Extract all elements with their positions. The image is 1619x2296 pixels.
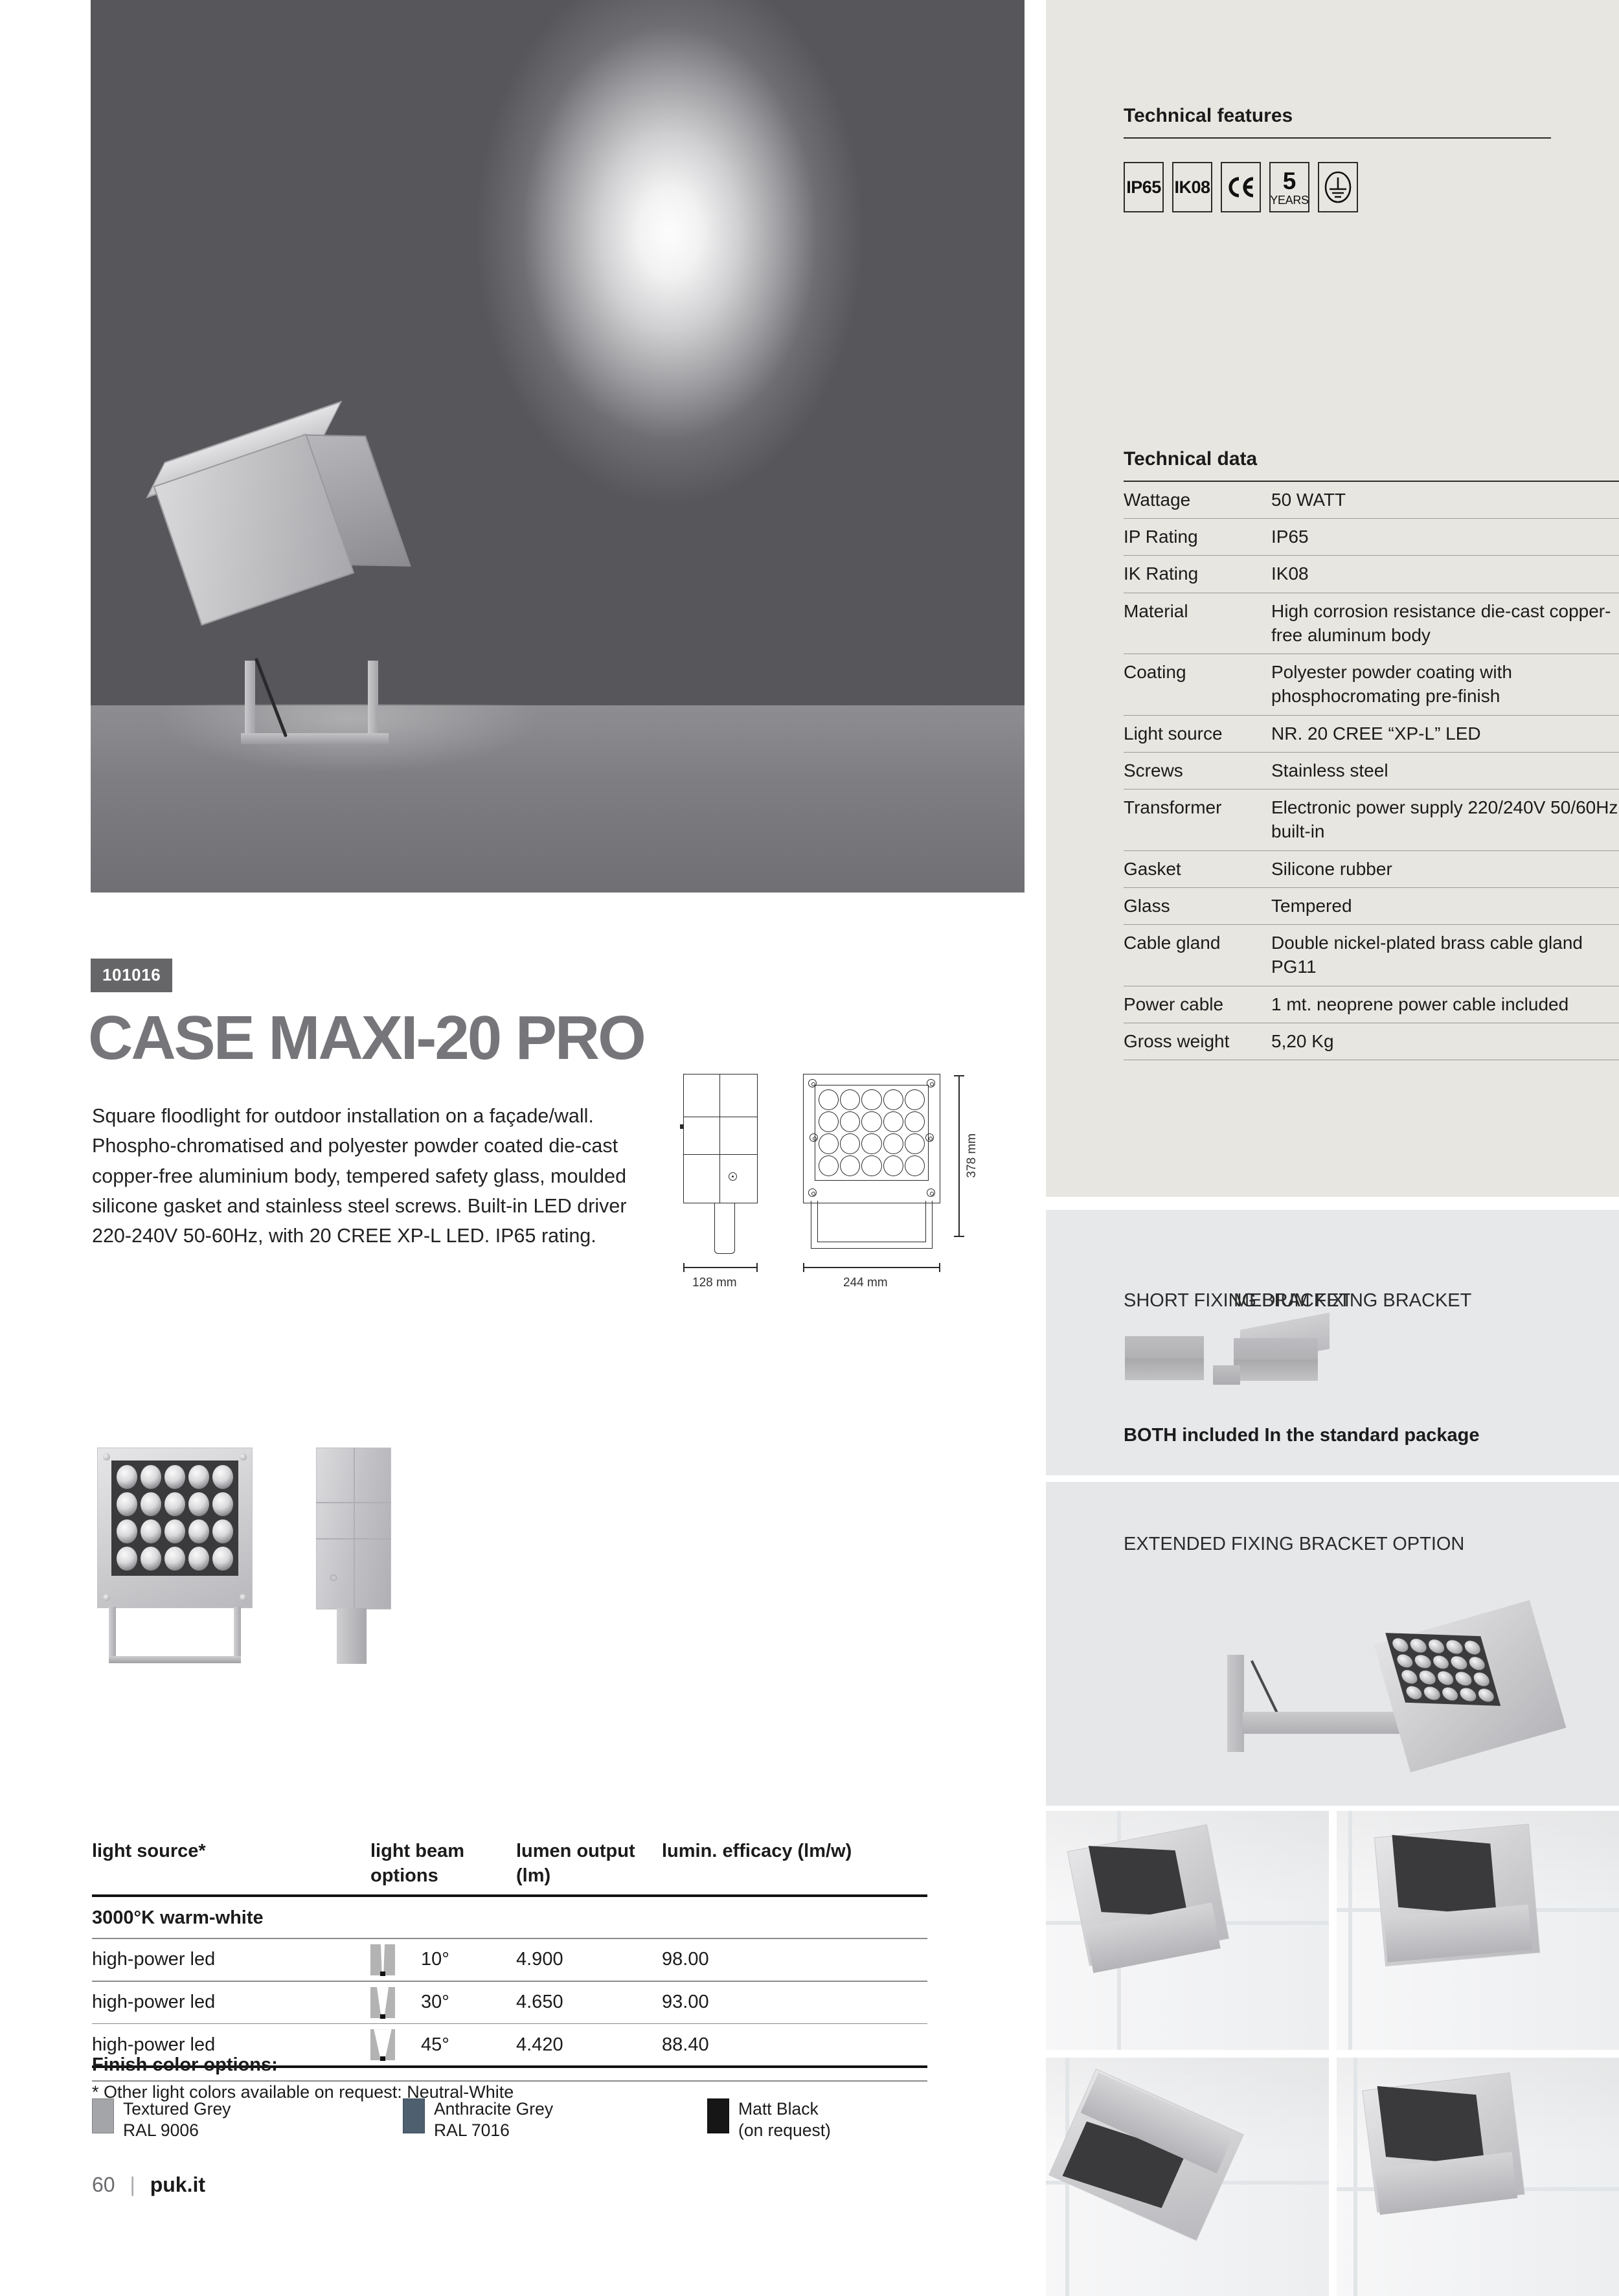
ce-mark-icon (1221, 162, 1261, 212)
table-header-row: light source* light beam options lumen o… (92, 1839, 927, 1888)
ik-rating-badge: IK08 (1172, 162, 1212, 212)
cell-beam-angle: 10° (421, 1949, 449, 1970)
technical-panel: Technical features IP65 IK08 5 YEARS T (1046, 0, 1619, 1197)
col-efficacy: lumin. efficacy (lm/w) (662, 1839, 927, 1888)
product-description: Square floodlight for outdoor installati… (92, 1101, 636, 1251)
section-rule (1124, 137, 1551, 139)
finish-name: Anthracite Grey (434, 2099, 553, 2119)
data-value: Stainless steel (1271, 758, 1619, 782)
cell-light-source: high-power led (92, 1949, 370, 1970)
hero-product-photo (91, 0, 1025, 892)
finish-name: Matt Black (738, 2099, 819, 2119)
technical-data-title: Technical data (1124, 448, 1257, 470)
hero-floor (91, 705, 1025, 892)
medium-bracket-label: MEDIUM FIXING BRACKET (1234, 1289, 1471, 1313)
side-view-drawing (683, 1074, 758, 1236)
beam-angle-30-icon (370, 1987, 395, 2018)
color-swatch-textured-grey (92, 2098, 114, 2133)
finish-color-options: Textured Grey RAL 9006 Anthracite Grey R… (92, 2098, 927, 2142)
dimension-side-width (683, 1267, 758, 1268)
data-key: Power cable (1124, 992, 1271, 1016)
finish-option: Anthracite Grey RAL 7016 (403, 2098, 707, 2142)
extended-bracket-photo (1227, 1615, 1564, 1786)
data-value: 5,20 Kg (1271, 1029, 1619, 1053)
product-photo-front (97, 1448, 253, 1665)
beam-angle-45-icon (370, 2029, 395, 2060)
dimension-side-width-label: 128 mm (692, 1276, 737, 1290)
table-row: Light sourceNR. 20 CREE “XP-L” LED (1124, 716, 1619, 753)
table-row: ScrewsStainless steel (1124, 753, 1619, 790)
data-value: NR. 20 CREE “XP-L” LED (1271, 722, 1619, 745)
data-key: Screws (1124, 758, 1271, 782)
data-key: Wattage (1124, 488, 1271, 512)
product-photo-side (304, 1448, 402, 1665)
brackets-included-note: BOTH included In the standard package (1124, 1425, 1480, 1446)
technical-features-title: Technical features (1124, 105, 1293, 127)
product-photos (91, 1428, 505, 1687)
dimension-height (958, 1075, 960, 1237)
cell-efficacy: 93.00 (662, 1992, 927, 2013)
table-row: GlassTempered (1124, 888, 1619, 925)
data-key: Gasket (1124, 857, 1271, 881)
cct-group-label: 3000°K warm-white (92, 1897, 927, 1938)
data-key: Light source (1124, 722, 1271, 745)
cell-efficacy: 98.00 (662, 1949, 927, 1970)
finish-rule (92, 2080, 927, 2082)
data-value: Tempered (1271, 894, 1619, 918)
col-lumen-output: lumen output (lm) (516, 1839, 662, 1888)
table-row: TransformerElectronic power supply 220/2… (1124, 790, 1619, 850)
cell-light-source: high-power led (92, 1992, 370, 2013)
cell-lumen: 4.650 (516, 1992, 662, 2013)
table-row: IP RatingIP65 (1124, 519, 1619, 556)
table-row: Cable glandDouble nickel-plated brass ca… (1124, 925, 1619, 986)
table-row: Power cable1 mt. neoprene power cable in… (1124, 986, 1619, 1023)
installation-photo (1337, 2058, 1619, 2296)
data-key: Glass (1124, 894, 1271, 918)
cell-beam-angle: 30° (421, 1992, 449, 2013)
data-value: Double nickel-plated brass cable gland P… (1271, 931, 1619, 979)
medium-bracket-photo-foot (1213, 1365, 1240, 1385)
data-key: IK Rating (1124, 562, 1271, 585)
dimension-height-label: 378 mm (965, 1133, 979, 1178)
short-bracket-photo (1125, 1336, 1204, 1380)
finish-code: (on request) (738, 2120, 831, 2140)
installation-photo-grid (1046, 1811, 1619, 2296)
led-array-20 (819, 1089, 925, 1176)
table-row: Wattage50 WATT (1124, 482, 1619, 519)
finish-code: RAL 7016 (434, 2120, 510, 2140)
cell-lumen: 4.900 (516, 1949, 662, 1970)
data-value: Electronic power supply 220/240V 50/60Hz… (1271, 795, 1619, 843)
col-light-source: light source* (92, 1839, 370, 1888)
data-value: IK08 (1271, 562, 1619, 585)
installation-photo (1337, 1811, 1619, 2050)
beam-angle-10-icon (370, 1944, 395, 1975)
dimension-drawings: 378 mm 128 mm 244 mm (674, 1061, 997, 1352)
medium-bracket-photo (1234, 1338, 1318, 1381)
installation-photo (1046, 2058, 1329, 2296)
finish-option: Textured Grey RAL 9006 (92, 2098, 403, 2142)
footer-site[interactable]: puk.it (150, 2173, 205, 2196)
data-key: Gross weight (1124, 1029, 1271, 1053)
earth-ground-icon (1318, 162, 1358, 212)
extended-bracket-label: EXTENDED FIXING BRACKET OPTION (1124, 1532, 1464, 1556)
table-row: Gross weight5,20 Kg (1124, 1023, 1619, 1060)
data-value: Polyester powder coating with phosphocro… (1271, 660, 1619, 708)
data-key: Coating (1124, 660, 1271, 708)
finish-options-title: Finish color options: (92, 2054, 278, 2076)
front-view-drawing (803, 1074, 940, 1236)
table-row: GasketSilicone rubber (1124, 851, 1619, 888)
finish-name: Textured Grey (123, 2099, 231, 2119)
cell-lumen: 4.420 (516, 2034, 662, 2056)
fixing-brackets-panel: SHORT FIXING BRACKET MEDIUM FIXING BRACK… (1046, 1210, 1619, 1475)
product-code-badge: 101016 (91, 959, 172, 992)
table-row: IK RatingIK08 (1124, 556, 1619, 593)
installation-photo (1046, 1811, 1329, 2050)
data-value: IP65 (1271, 525, 1619, 549)
dimension-front-width (803, 1267, 940, 1268)
data-value: 1 mt. neoprene power cable included (1271, 992, 1619, 1016)
dimension-front-width-label: 244 mm (843, 1276, 888, 1290)
data-value: High corrosion resistance die-cast coppe… (1271, 599, 1619, 647)
warranty-unit: YEARS (1270, 194, 1309, 206)
finish-option: Matt Black (on request) (707, 2098, 831, 2142)
table-row: high-power led 30° 4.650 93.00 (92, 1982, 927, 2023)
warranty-number: 5 (1283, 169, 1296, 193)
cell-light-source: high-power led (92, 2034, 370, 2056)
warranty-years-badge: 5 YEARS (1269, 162, 1309, 212)
table-row: CoatingPolyester powder coating with pho… (1124, 654, 1619, 715)
data-key: IP Rating (1124, 525, 1271, 549)
color-swatch-anthracite-grey (403, 2098, 425, 2133)
data-key: Material (1124, 599, 1271, 647)
table-row: high-power led 10° 4.900 98.00 (92, 1939, 927, 1981)
technical-feature-badges: IP65 IK08 5 YEARS (1124, 162, 1358, 212)
extended-bracket-panel: EXTENDED FIXING BRACKET OPTION (1046, 1482, 1619, 1806)
page-number: 60 (92, 2173, 115, 2196)
data-key: Transformer (1124, 795, 1271, 843)
ip-rating-badge: IP65 (1124, 162, 1164, 212)
color-swatch-matt-black (707, 2098, 729, 2133)
data-value: Silicone rubber (1271, 857, 1619, 881)
col-light-beam: light beam options (370, 1839, 516, 1888)
table-row: MaterialHigh corrosion resistance die-ca… (1124, 593, 1619, 654)
page-title: CASE MAXI-20 PRO (88, 1003, 644, 1074)
data-value: 50 WATT (1271, 488, 1619, 512)
data-key: Cable gland (1124, 931, 1271, 979)
technical-data-table: Wattage50 WATT IP RatingIP65 IK RatingIK… (1124, 482, 1619, 1060)
cell-efficacy: 88.40 (662, 2034, 927, 2056)
page-footer: 60 | puk.it (92, 2173, 205, 2197)
footer-divider: | (130, 2173, 135, 2196)
finish-code: RAL 9006 (123, 2120, 199, 2140)
cell-beam-angle: 45° (421, 2034, 449, 2056)
